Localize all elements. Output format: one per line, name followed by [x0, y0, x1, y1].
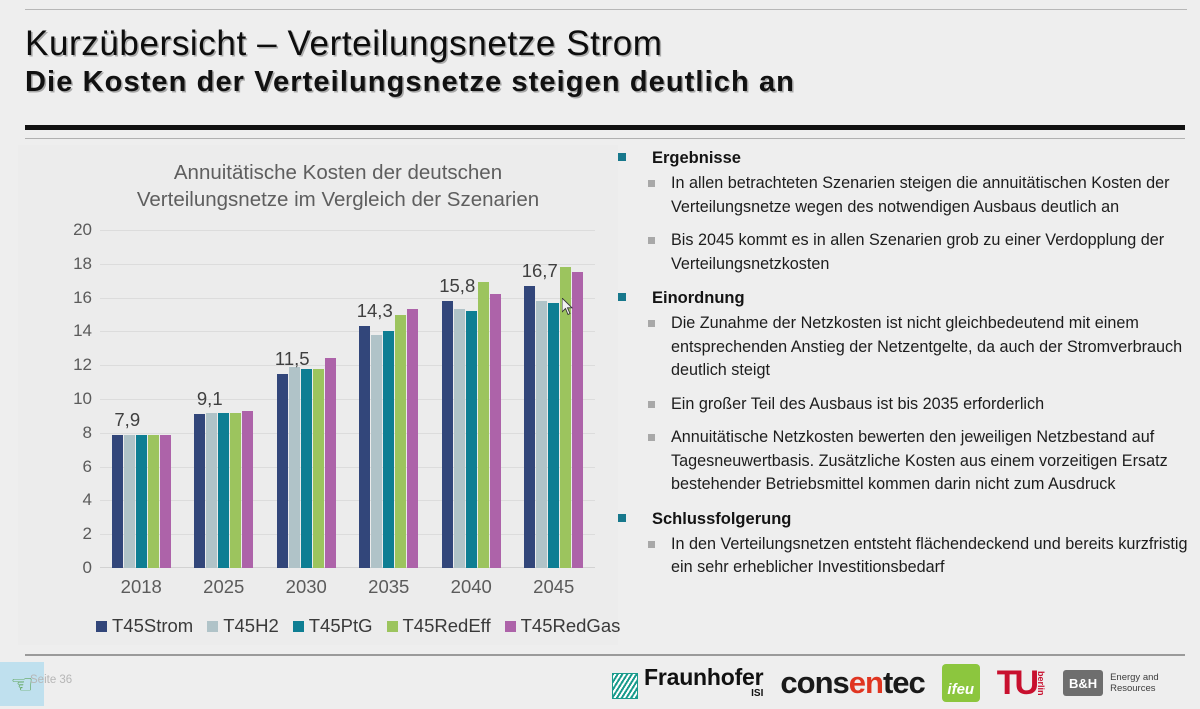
bar-T45RedGas — [490, 294, 501, 568]
bar-T45PtG — [548, 303, 559, 568]
y-axis-tick: 20 — [73, 220, 92, 240]
bbh-mark-icon: B&H — [1063, 670, 1103, 696]
section-heading-label: Einordnung — [652, 286, 745, 310]
bullet-square-icon — [648, 401, 655, 408]
bullet-square-icon — [618, 293, 626, 301]
bar-group: 204516,7 — [513, 230, 596, 568]
bar-T45Strom — [277, 374, 288, 568]
legend-swatch-icon — [505, 621, 516, 632]
tu-berlin-sidetext: berlin — [1036, 671, 1046, 696]
bar-T45H2 — [289, 367, 300, 568]
y-axis-tick: 16 — [73, 288, 92, 308]
bar-T45RedEff — [395, 315, 406, 569]
consentec-logo: consentec — [780, 665, 924, 701]
content-section: SchlussfolgerungIn den Verteilungsnetzen… — [618, 507, 1188, 580]
bar-T45H2 — [124, 435, 135, 569]
fraunhofer-wordmark: Fraunhofer — [644, 667, 763, 689]
tu-wordmark: TU — [997, 666, 1036, 700]
bar-value-label: 14,3 — [334, 300, 417, 322]
fraunhofer-mark-icon — [612, 673, 638, 699]
bullet-square-icon — [648, 434, 655, 441]
list-item-label: Annuitätische Netzkosten bewerten den je… — [671, 426, 1188, 497]
legend-swatch-icon — [96, 621, 107, 632]
bar-T45Strom — [194, 414, 205, 568]
header-divider-thin — [25, 138, 1185, 139]
legend-label: T45H2 — [223, 615, 279, 637]
chart-legend: T45StromT45H2T45PtGT45RedEffT45RedGas — [96, 615, 616, 637]
mouse-cursor-icon — [562, 298, 574, 316]
y-axis-tick: 10 — [73, 389, 92, 409]
legend-item-T45RedEff[interactable]: T45RedEff — [387, 615, 491, 637]
bar-value-label: 7,9 — [86, 409, 169, 431]
x-axis-tick: 2045 — [513, 576, 596, 598]
footer-divider — [25, 654, 1185, 656]
legend-label: T45RedEff — [403, 615, 491, 637]
bbh-tagline: Energy and Resources — [1110, 672, 1159, 694]
bar-group: 20259,1 — [183, 230, 266, 568]
header-divider-thick — [25, 125, 1185, 130]
fraunhofer-logo: Fraunhofer ISI — [612, 667, 763, 700]
slide-header: Kurzübersicht – Verteilungsnetze Strom D… — [0, 18, 1200, 126]
bar-T45PtG — [136, 435, 147, 569]
bar-T45RedEff — [230, 413, 241, 568]
bullet-square-icon — [648, 180, 655, 187]
bar-T45RedEff — [148, 435, 159, 569]
legend-item-T45RedGas[interactable]: T45RedGas — [505, 615, 621, 637]
y-axis-tick: 4 — [83, 490, 92, 510]
fraunhofer-institute-code: ISI — [644, 688, 763, 699]
bar-T45H2 — [454, 309, 465, 568]
bar-T45RedGas — [160, 435, 171, 569]
x-axis-tick: 2030 — [265, 576, 348, 598]
legend-item-T45H2[interactable]: T45H2 — [207, 615, 279, 637]
chart-title: Annuitätische Kosten der deutschen Verte… — [18, 159, 618, 213]
list-item: In den Verteilungsnetzen entsteht fläche… — [648, 533, 1188, 580]
y-axis-label: Mrd. €/a — [0, 414, 5, 475]
bar-T45RedEff — [313, 369, 324, 568]
bar-value-label: 15,8 — [416, 275, 499, 297]
consentec-part-c: tec — [883, 665, 925, 700]
consentec-part-a: cons — [780, 665, 848, 700]
bar-T45Strom — [442, 301, 453, 568]
list-item: In allen betrachteten Szenarien steigen … — [648, 172, 1188, 219]
list-item: Die Zunahme der Netzkosten ist nicht gle… — [648, 312, 1188, 383]
bullet-content: ErgebnisseIn allen betrachteten Szenarie… — [618, 146, 1188, 590]
list-item-label: Bis 2045 kommt es in allen Szenarien gro… — [671, 229, 1188, 276]
chart-plot-area: 0246810121416182020187,920259,1203011,52… — [100, 230, 595, 568]
bar-T45Strom — [359, 326, 370, 568]
list-item-label: Die Zunahme der Netzkosten ist nicht gle… — [671, 312, 1188, 383]
bar-T45H2 — [206, 413, 217, 568]
legend-label: T45Strom — [112, 615, 193, 637]
bbh-tagline-line-1: Energy and — [1110, 672, 1159, 683]
bbh-tagline-line-2: Resources — [1110, 683, 1159, 694]
page-number: Seite 36 — [30, 674, 72, 686]
section-heading-label: Schlussfolgerung — [652, 507, 791, 531]
top-hairline — [25, 9, 1187, 10]
y-axis-tick: 6 — [83, 457, 92, 477]
page-title: Kurzübersicht – Verteilungsnetze Strom — [25, 24, 663, 64]
section-heading: Schlussfolgerung — [618, 507, 1188, 531]
legend-swatch-icon — [293, 621, 304, 632]
list-item-label: In den Verteilungsnetzen entsteht fläche… — [671, 533, 1188, 580]
bullet-square-icon — [648, 237, 655, 244]
section-heading: Einordnung — [618, 286, 1188, 310]
legend-item-T45PtG[interactable]: T45PtG — [293, 615, 373, 637]
chart-title-line-1: Annuitätische Kosten der deutschen — [58, 159, 618, 186]
bar-T45PtG — [383, 331, 394, 568]
x-axis-tick: 2035 — [348, 576, 431, 598]
bar-group: 203011,5 — [265, 230, 348, 568]
bar-T45PtG — [218, 413, 229, 568]
bar-T45RedEff — [478, 282, 489, 568]
y-axis-tick: 0 — [83, 558, 92, 578]
y-axis-tick: 2 — [83, 524, 92, 544]
section-heading: Ergebnisse — [618, 146, 1188, 170]
x-axis-tick: 2040 — [430, 576, 513, 598]
list-item-label: Ein großer Teil des Ausbaus ist bis 2035… — [671, 393, 1044, 417]
bar-T45RedGas — [572, 272, 583, 568]
x-axis-tick: 2018 — [100, 576, 183, 598]
bullet-square-icon — [648, 320, 655, 327]
bar-T45PtG — [301, 369, 312, 568]
bbh-logo: B&H Energy and Resources — [1063, 670, 1159, 696]
content-section: ErgebnisseIn allen betrachteten Szenarie… — [618, 146, 1188, 276]
section-heading-label: Ergebnisse — [652, 146, 741, 170]
bar-T45H2 — [536, 301, 547, 568]
list-item: Bis 2045 kommt es in allen Szenarien gro… — [648, 229, 1188, 276]
list-item-label: In allen betrachteten Szenarien steigen … — [671, 172, 1188, 219]
legend-swatch-icon — [207, 621, 218, 632]
bar-value-label: 16,7 — [499, 260, 582, 282]
bar-T45RedGas — [407, 309, 418, 568]
bar-value-label: 9,1 — [169, 388, 252, 410]
legend-item-T45Strom[interactable]: T45Strom — [96, 615, 193, 637]
tu-berlin-logo: TU berlin — [997, 666, 1046, 700]
list-item: Ein großer Teil des Ausbaus ist bis 2035… — [648, 393, 1188, 417]
bullet-square-icon — [648, 541, 655, 548]
bullet-square-icon — [618, 514, 626, 522]
consentec-part-b: en — [849, 665, 883, 700]
bar-T45Strom — [112, 435, 123, 569]
page-subtitle: Die Kosten der Verteilungsnetze steigen … — [25, 66, 795, 99]
bar-T45RedGas — [325, 358, 336, 568]
bar-T45RedGas — [242, 411, 253, 568]
bar-T45H2 — [371, 335, 382, 568]
legend-label: T45PtG — [309, 615, 373, 637]
list-item: Annuitätische Netzkosten bewerten den je… — [648, 426, 1188, 497]
partner-logos: Fraunhofer ISI consentec ifeu TU berlin … — [612, 660, 1159, 706]
bar-T45PtG — [466, 311, 477, 568]
y-axis-tick: 14 — [73, 321, 92, 341]
chart-title-line-2: Verteilungsnetze im Vergleich der Szenar… — [58, 186, 618, 213]
legend-swatch-icon — [387, 621, 398, 632]
content-section: EinordnungDie Zunahme der Netzkosten ist… — [618, 286, 1188, 497]
bar-value-label: 11,5 — [251, 348, 334, 370]
x-axis-tick: 2025 — [183, 576, 266, 598]
y-axis-tick: 18 — [73, 254, 92, 274]
bar-T45Strom — [524, 286, 535, 568]
y-axis-tick: 12 — [73, 355, 92, 375]
legend-label: T45RedGas — [521, 615, 621, 637]
chart-panel: Annuitätische Kosten der deutschen Verte… — [18, 145, 618, 645]
bullet-square-icon — [618, 153, 626, 161]
ifeu-logo: ifeu — [942, 664, 980, 702]
